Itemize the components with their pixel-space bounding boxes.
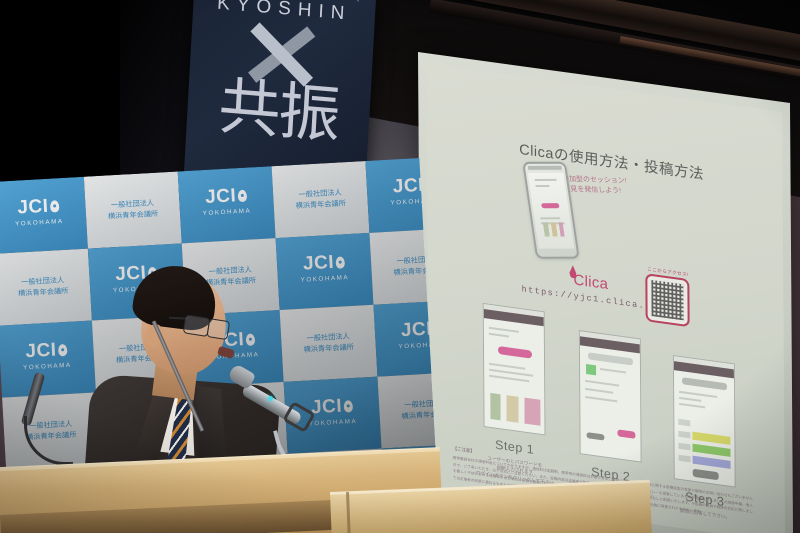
glasses-lens bbox=[206, 318, 230, 340]
banner-kanji: 共振 bbox=[186, 73, 371, 150]
projection-screen-wrap: Clicaの使用方法・投稿方法 スマホで参加型のセッション! あなたの意見を発信… bbox=[418, 52, 800, 522]
phone-screen bbox=[528, 173, 575, 249]
mock-line bbox=[489, 333, 509, 338]
clica-brand-logo: Clica bbox=[573, 271, 608, 293]
poll-bar bbox=[693, 456, 731, 469]
poll-row-label bbox=[678, 443, 690, 451]
microphone-cable bbox=[24, 416, 73, 465]
mock-green-icon bbox=[586, 364, 596, 375]
phone-mockup-step2 bbox=[579, 330, 642, 463]
poll-row-label bbox=[679, 455, 691, 463]
mock-field bbox=[682, 377, 727, 390]
poll-bar bbox=[692, 432, 730, 445]
projection-screen-surface: Clicaの使用方法・投稿方法 スマホで参加型のセッション! あなたの意見を発信… bbox=[418, 52, 793, 533]
phone-status-bar bbox=[528, 166, 562, 170]
mock-line bbox=[489, 327, 519, 333]
mock-gray-button bbox=[586, 432, 604, 440]
phone-text-line bbox=[540, 217, 560, 219]
phone-mockup-step1 bbox=[483, 303, 546, 436]
qr-code-pattern bbox=[651, 280, 683, 320]
mock-line bbox=[679, 397, 701, 402]
phone-illustration bbox=[543, 222, 565, 236]
mock-line bbox=[585, 396, 617, 402]
phone-text-line bbox=[535, 185, 549, 187]
photo-scene: Clicaの使用方法・投稿方法 スマホで参加型のセッション! あなたの意見を発信… bbox=[0, 0, 800, 533]
speaker-mouth bbox=[217, 346, 235, 359]
phone-mockup-step3 bbox=[673, 355, 736, 488]
projection-screen: Clicaの使用方法・投稿方法 スマホで参加型のセッション! あなたの意見を発信… bbox=[418, 52, 793, 533]
phone-text-line bbox=[535, 179, 557, 181]
mock-line bbox=[679, 403, 705, 409]
poll-row-label bbox=[678, 431, 690, 439]
mock-line bbox=[489, 375, 529, 382]
mock-field bbox=[588, 352, 633, 365]
poll-row-label bbox=[678, 419, 690, 427]
poll-bar bbox=[692, 444, 730, 457]
phone-login-button bbox=[541, 203, 560, 208]
mock-pink-button bbox=[617, 429, 635, 438]
presentation-slide: Clicaの使用方法・投稿方法 スマホで参加型のセッション! あなたの意見を発信… bbox=[426, 63, 785, 533]
mock-line bbox=[585, 388, 613, 394]
mock-login-button bbox=[498, 346, 532, 359]
mock-line bbox=[600, 368, 626, 374]
mock-illustration bbox=[490, 393, 540, 426]
microphone-led-icon bbox=[268, 396, 273, 401]
mock-line bbox=[585, 380, 619, 387]
qr-code-icon bbox=[645, 273, 689, 327]
